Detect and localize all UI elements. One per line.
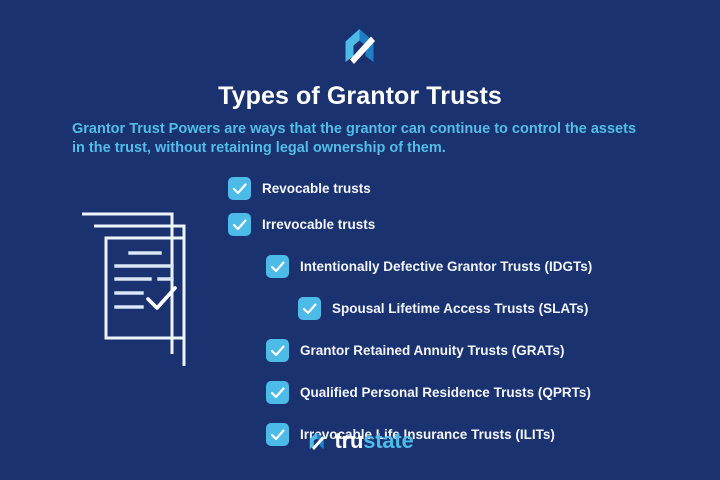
list-item[interactable]: Irrevocable trusts bbox=[228, 212, 698, 236]
page-title: Types of Grantor Trusts bbox=[0, 82, 720, 111]
brand-name-part-one: tru bbox=[334, 428, 363, 453]
infographic-canvas: Types of Grantor Trusts Grantor Trust Po… bbox=[0, 0, 720, 480]
list-item-label: Grantor Retained Annuity Trusts (GRATs) bbox=[300, 343, 565, 358]
checkbox-checked-icon[interactable] bbox=[266, 255, 289, 278]
list-item[interactable]: Revocable trusts bbox=[228, 176, 698, 200]
list-item-label: Qualified Personal Residence Trusts (QPR… bbox=[300, 385, 591, 400]
list-item-label: Revocable trusts bbox=[262, 181, 371, 196]
stacked-documents-checklist-illustration bbox=[72, 208, 212, 368]
brand-name-part-two: state bbox=[363, 428, 413, 453]
list-item[interactable]: Qualified Personal Residence Trusts (QPR… bbox=[266, 380, 698, 404]
trustate-arrow-logo-icon bbox=[338, 26, 382, 66]
checkbox-checked-icon[interactable] bbox=[266, 381, 289, 404]
list-item[interactable]: Spousal Lifetime Access Trusts (SLATs) bbox=[298, 296, 698, 320]
list-item-label: Spousal Lifetime Access Trusts (SLATs) bbox=[332, 301, 588, 316]
list-item-label: Irrevocable trusts bbox=[262, 217, 375, 232]
checkbox-checked-icon[interactable] bbox=[266, 339, 289, 362]
checkbox-checked-icon[interactable] bbox=[228, 177, 251, 200]
trust-types-checklist: Revocable trusts Irrevocable trusts Inte… bbox=[228, 176, 698, 458]
list-item-label: Intentionally Defective Grantor Trusts (… bbox=[300, 259, 592, 274]
footer-brand: trustate bbox=[0, 430, 720, 452]
checkbox-checked-icon[interactable] bbox=[298, 297, 321, 320]
list-item[interactable]: Intentionally Defective Grantor Trusts (… bbox=[266, 254, 698, 278]
page-subtitle: Grantor Trust Powers are ways that the g… bbox=[72, 120, 652, 158]
checkbox-checked-icon[interactable] bbox=[228, 213, 251, 236]
trustate-arrow-logo-icon bbox=[306, 431, 328, 451]
list-item[interactable]: Grantor Retained Annuity Trusts (GRATs) bbox=[266, 338, 698, 362]
